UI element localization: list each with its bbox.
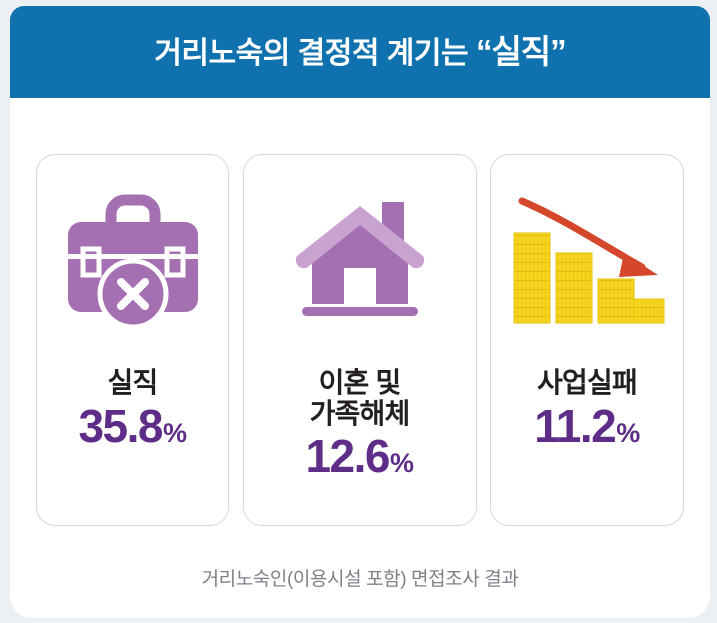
stat-label: 사업실패: [537, 367, 637, 398]
page-title-prefix: 거리노숙의 결정적 계기는: [154, 37, 476, 70]
text-area-business-failure: 사업실패 11.2%: [491, 367, 683, 451]
stat-label: 이혼 및 가족해체: [310, 367, 410, 430]
icon-area-divorce: [244, 155, 476, 367]
stat-value-number: 35.8: [78, 402, 162, 450]
icon-area-business-failure: [491, 155, 683, 367]
stat-value-number: 12.6: [305, 432, 389, 480]
stat-value-unit: %: [390, 449, 414, 477]
infographic-root: 거리노숙의 결정적 계기는 “실직”: [0, 0, 717, 623]
stat-label: 실직: [108, 367, 158, 398]
page-title-highlight: “실직”: [476, 33, 566, 70]
stat-card-row: 실직 35.8%: [36, 154, 684, 526]
briefcase-x-icon: [61, 194, 205, 328]
stat-value: 11.2%: [534, 402, 640, 450]
stat-value-unit: %: [616, 419, 640, 447]
stat-value: 12.6%: [305, 432, 413, 480]
stat-card-unemployment[interactable]: 실직 35.8%: [36, 154, 229, 526]
text-area-divorce: 이혼 및 가족해체 12.6%: [244, 367, 476, 480]
content-panel: 실직 35.8%: [10, 98, 710, 618]
house-icon: [290, 194, 430, 328]
icon-area-unemployment: [37, 155, 228, 367]
stat-value-number: 11.2: [534, 402, 615, 450]
source-caption: 거리노숙인(이용시설 포함) 면접조사 결과: [10, 564, 710, 591]
header-banner: 거리노숙의 결정적 계기는 “실직”: [10, 6, 710, 98]
stat-value-unit: %: [163, 419, 187, 447]
stat-value: 35.8%: [78, 402, 186, 450]
page-title: 거리노숙의 결정적 계기는 “실직”: [154, 35, 565, 69]
text-area-unemployment: 실직 35.8%: [37, 367, 228, 451]
stat-card-divorce[interactable]: 이혼 및 가족해체 12.6%: [243, 154, 477, 526]
declining-bar-chart-icon: [506, 191, 668, 331]
stat-card-business-failure[interactable]: 사업실패 11.2%: [490, 154, 684, 526]
